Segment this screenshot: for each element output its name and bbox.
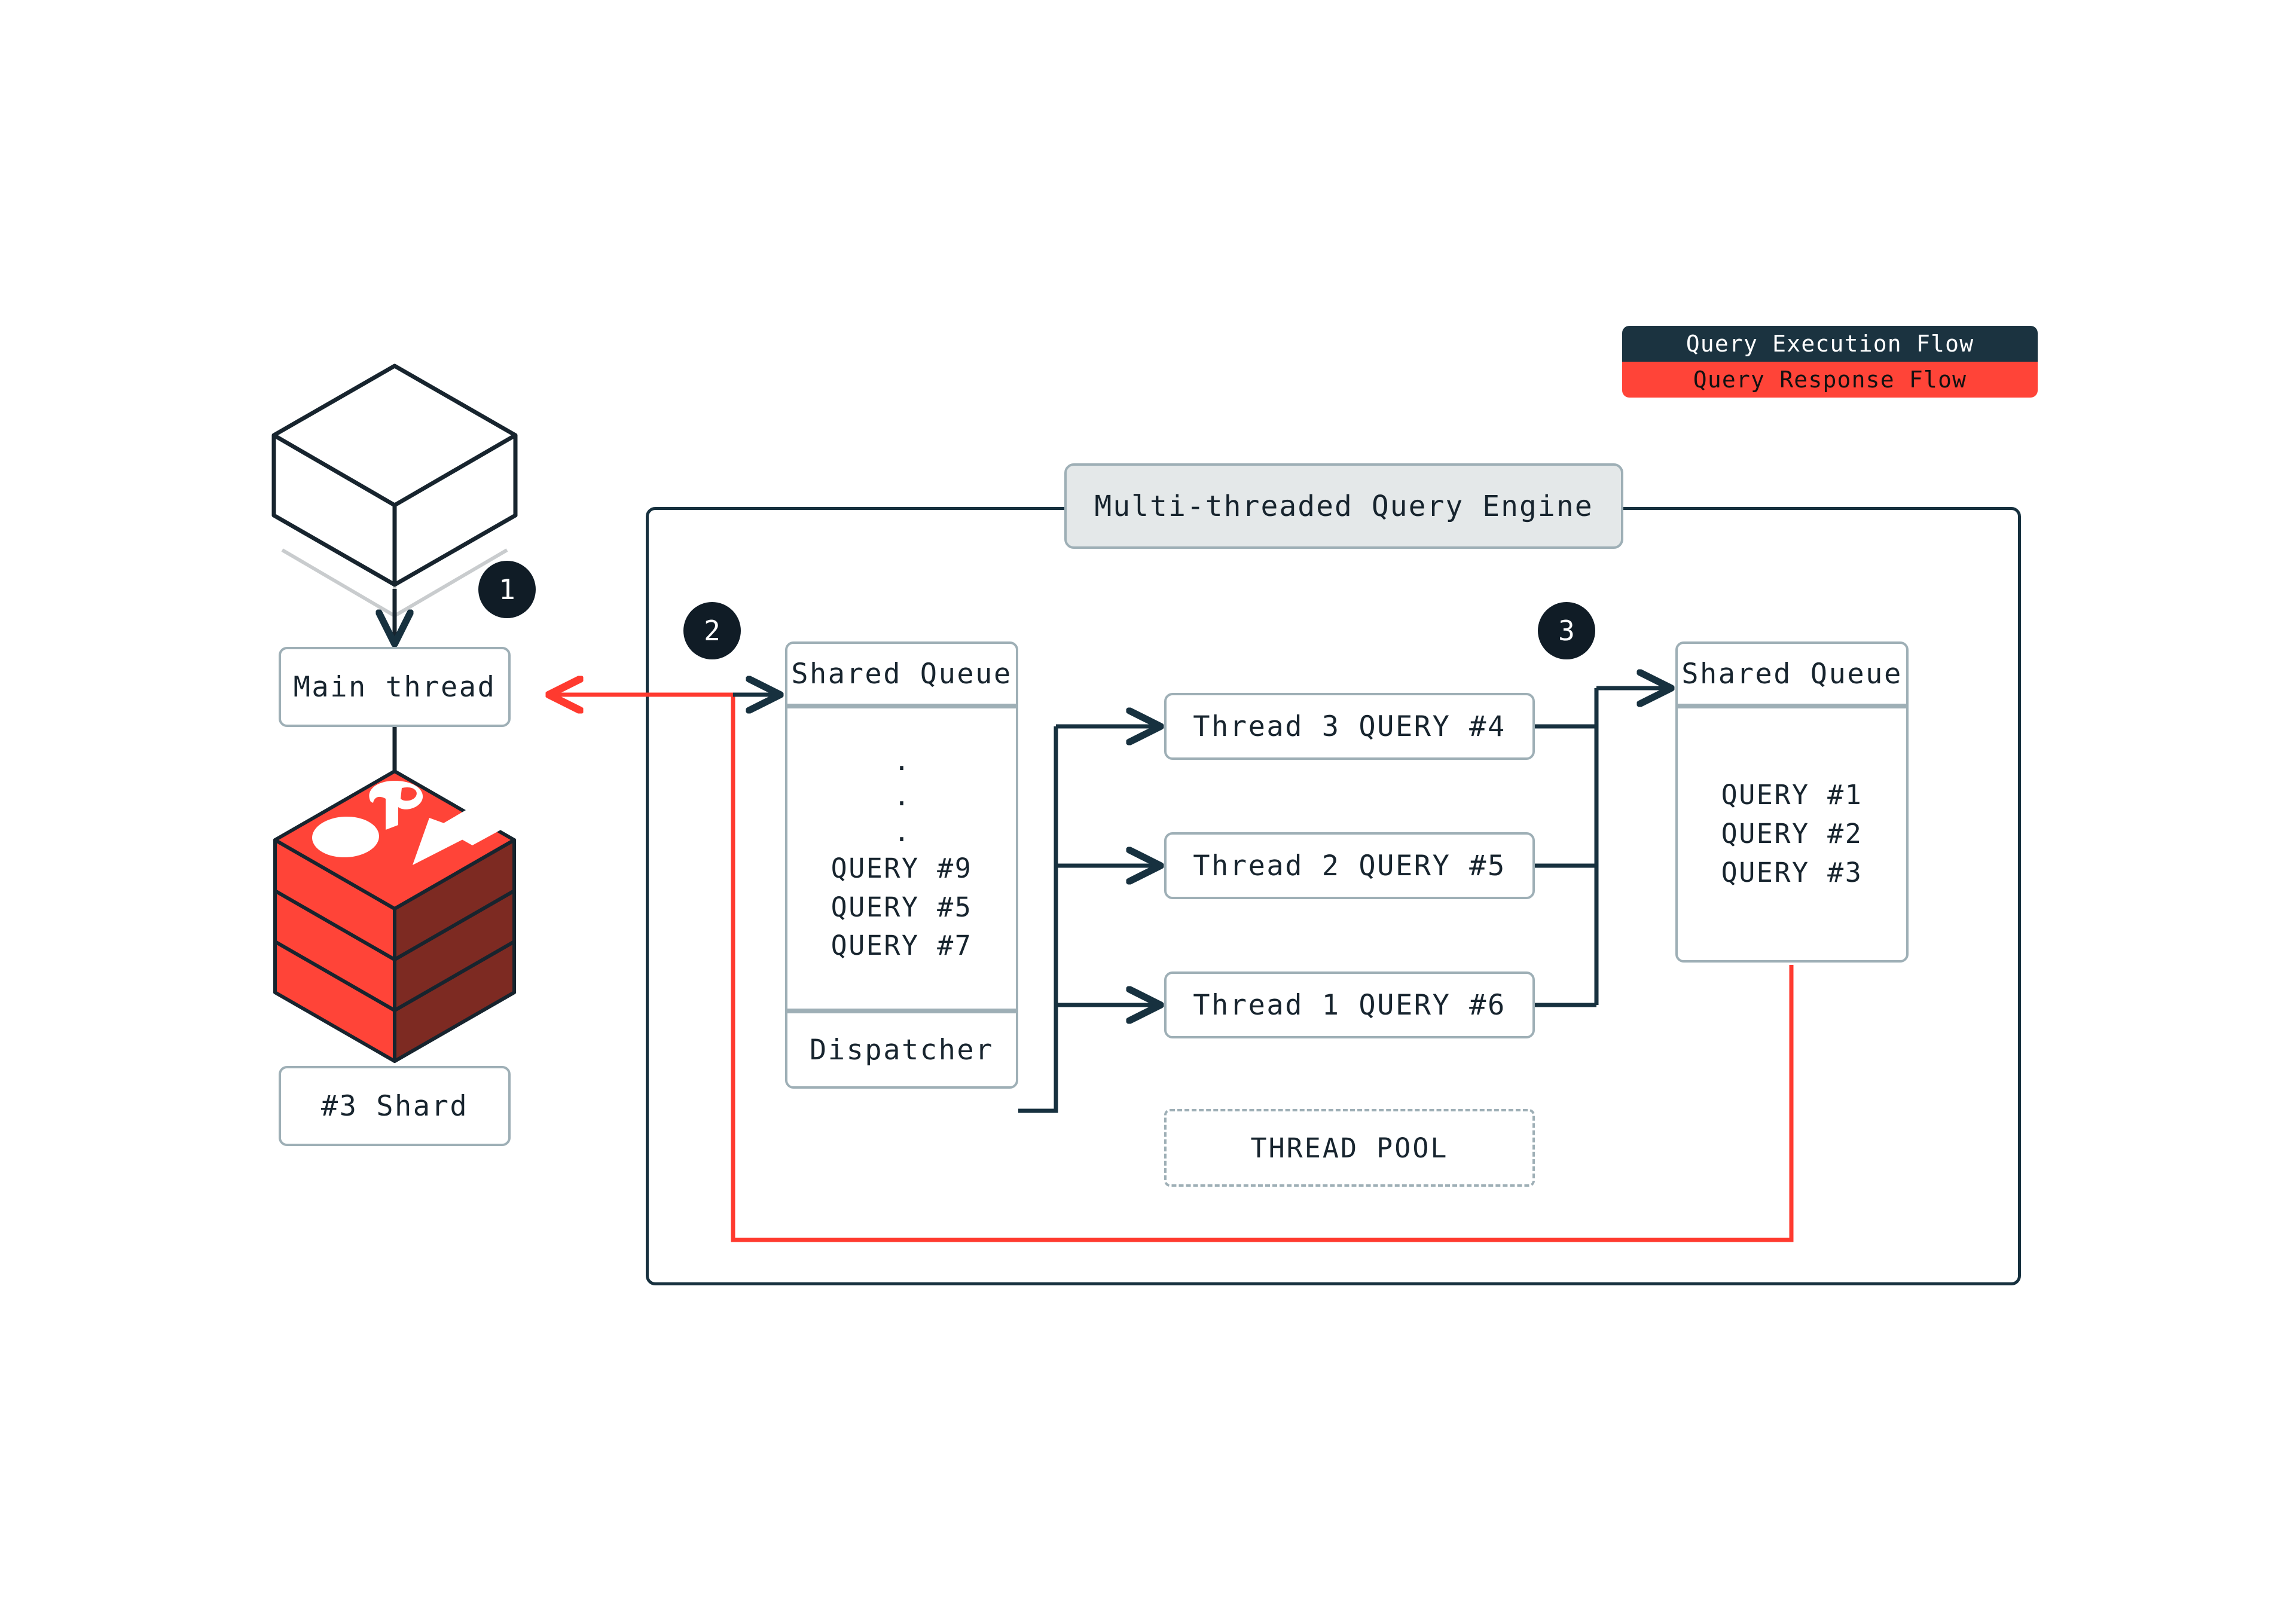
queue-dot: . <box>893 814 909 850</box>
queue-item: QUERY #3 <box>1721 854 1863 893</box>
shared-queue-right-body: QUERY #1 QUERY #2 QUERY #3 <box>1675 706 1909 963</box>
queue-item: QUERY #1 <box>1721 776 1863 815</box>
queue-item: QUERY #2 <box>1721 815 1863 854</box>
queue-dot: . <box>893 778 909 814</box>
step-badge-2: 2 <box>683 602 741 659</box>
thread-pool-box: THREAD POOL <box>1164 1109 1535 1187</box>
legend-query-response-flow: Query Response Flow <box>1622 362 2038 398</box>
shard-box: #3 Shard <box>279 1066 511 1146</box>
thread-2-label: Thread 2 QUERY #5 <box>1193 850 1506 882</box>
engine-title: Multi-threaded Query Engine <box>1064 463 1623 549</box>
queue-dot: . <box>893 743 909 778</box>
legend: Query Execution Flow Query Response Flow <box>1622 326 2038 398</box>
shared-queue-left-body: . . . QUERY #9 QUERY #5 QUERY #7 <box>785 706 1018 1011</box>
thread-1-box: Thread 1 QUERY #6 <box>1164 971 1535 1038</box>
step-badge-1: 1 <box>478 561 536 618</box>
queue-item: QUERY #9 <box>831 850 973 888</box>
shared-queue-right-header: Shared Queue <box>1675 641 1909 706</box>
thread-3-label: Thread 3 QUERY #4 <box>1193 710 1506 743</box>
diagram-canvas: Query Execution Flow Query Response Flow… <box>0 0 2296 1607</box>
thread-1-label: Thread 1 QUERY #6 <box>1193 989 1506 1022</box>
shared-queue-right: Shared Queue QUERY #1 QUERY #2 QUERY #3 <box>1675 641 1909 963</box>
redis-shard-cube-icon <box>275 771 514 1061</box>
shard-label: #3 Shard <box>321 1090 468 1123</box>
step-badge-3: 3 <box>1538 602 1595 659</box>
shared-queue-left-header: Shared Queue <box>785 641 1018 706</box>
thread-2-box: Thread 2 QUERY #5 <box>1164 832 1535 899</box>
main-thread-label: Main thread <box>294 671 496 704</box>
thread-3-box: Thread 3 QUERY #4 <box>1164 693 1535 760</box>
shared-queue-left: Shared Queue . . . QUERY #9 QUERY #5 QUE… <box>785 641 1018 1089</box>
main-thread-box: Main thread <box>279 647 511 727</box>
dispatcher-box: Dispatcher <box>785 1011 1018 1089</box>
queue-item: QUERY #5 <box>831 888 973 927</box>
queue-item: QUERY #7 <box>831 927 973 966</box>
legend-query-execution-flow: Query Execution Flow <box>1622 326 2038 362</box>
open-box-icon <box>274 366 515 616</box>
